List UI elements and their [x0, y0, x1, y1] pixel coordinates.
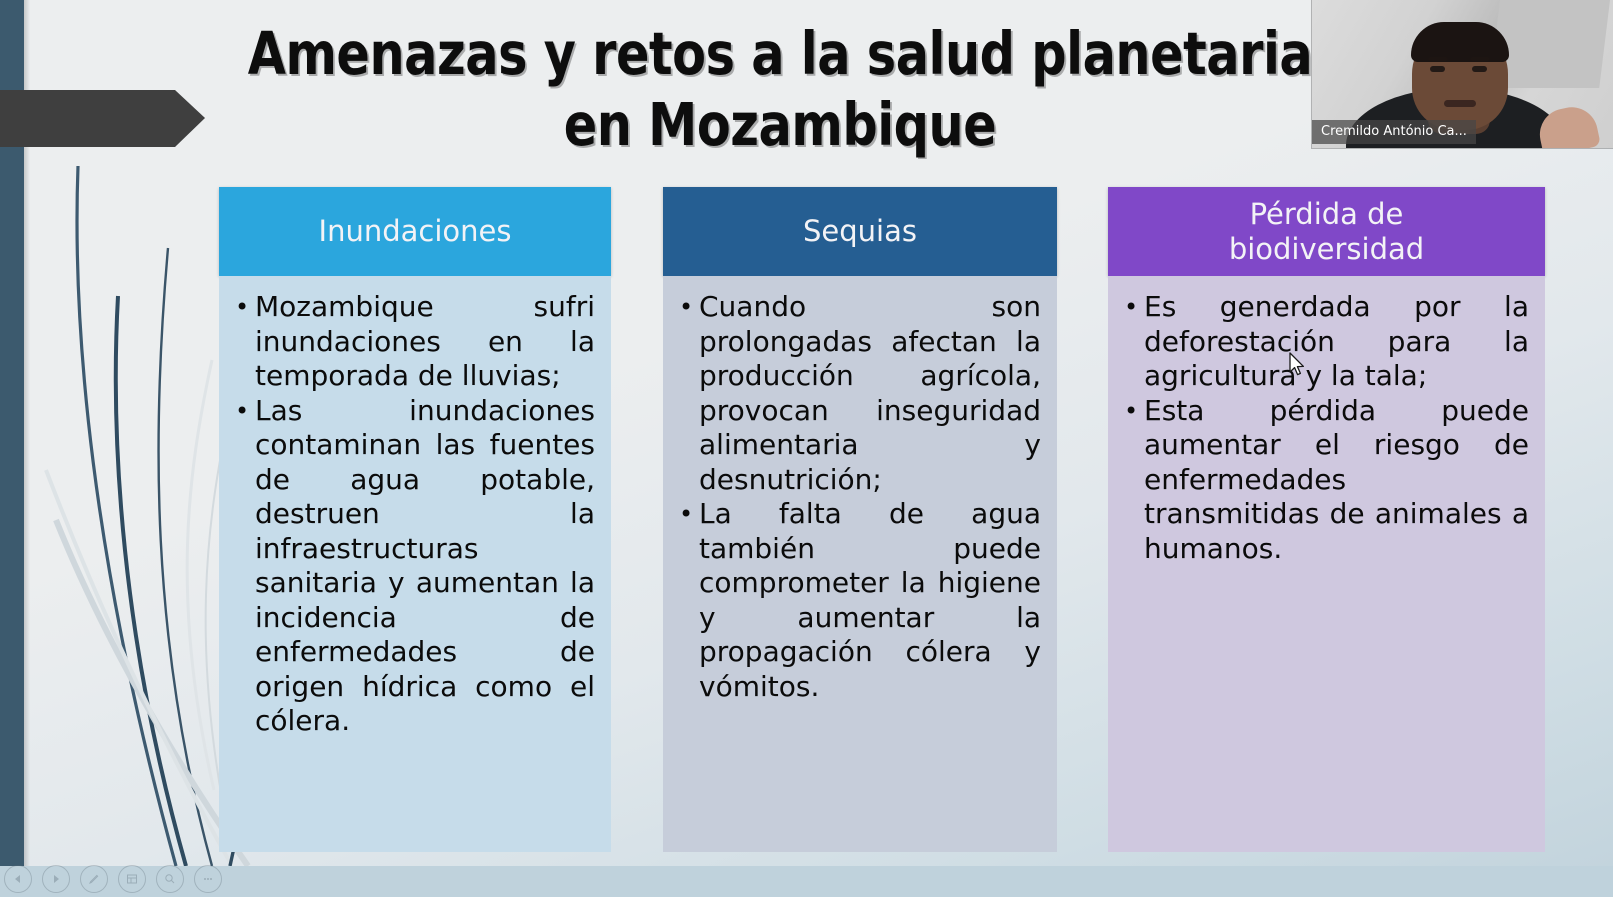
list-item: Mozambique sufri inundaciones en la temp… — [233, 290, 595, 394]
page-title: Amenazas y retos a la salud planetaria e… — [166, 18, 1394, 160]
topic-card-inundaciones: Inundaciones Mozambique sufri inundacion… — [219, 187, 611, 852]
slideshow-controls — [4, 865, 222, 893]
grid-view-icon[interactable] — [118, 865, 146, 893]
video-person-eyebrow-left — [1428, 57, 1448, 61]
topic-card-perdida-de-biodiversidad: Pérdida de biodiversidad Es generdada po… — [1108, 187, 1545, 852]
zoom-icon[interactable] — [156, 865, 184, 893]
list-item: Es generdada por la deforestación para l… — [1122, 290, 1529, 394]
bullet-list: Mozambique sufri inundaciones en la temp… — [233, 290, 595, 739]
list-item: Las inundaciones contaminan las fuentes … — [233, 394, 595, 739]
topic-card-header: Pérdida de biodiversidad — [1108, 187, 1545, 276]
video-person-eyebrow-right — [1470, 57, 1490, 61]
topic-card-header: Inundaciones — [219, 187, 611, 276]
topic-card-header: Sequias — [663, 187, 1057, 276]
participant-video-tile[interactable]: Cremildo António Ca... — [1312, 0, 1613, 148]
topic-card-body: Mozambique sufri inundaciones en la temp… — [219, 276, 611, 852]
pen-icon[interactable] — [80, 865, 108, 893]
list-item: Esta pérdida puede aumentar el riesgo de… — [1122, 394, 1529, 567]
list-item: La falta de agua también puede compromet… — [677, 497, 1041, 704]
bullet-list: Cuando son prolongadas afectan la produc… — [677, 290, 1041, 704]
topic-card-sequias: Sequias Cuando son prolongadas afectan l… — [663, 187, 1057, 852]
video-person-hair — [1411, 22, 1509, 62]
topic-card-body: Es generdada por la deforestación para l… — [1108, 276, 1545, 852]
slide-bottom-strip — [0, 866, 1613, 897]
bullet-list: Es generdada por la deforestación para l… — [1122, 290, 1529, 566]
next-slide-icon[interactable] — [42, 865, 70, 893]
video-person-mouth — [1444, 100, 1476, 107]
list-item: Cuando son prolongadas afectan la produc… — [677, 290, 1041, 497]
presentation-viewer: Amenazas y retos a la salud planetaria e… — [0, 0, 1613, 897]
previous-slide-icon[interactable] — [4, 865, 32, 893]
more-options-icon[interactable] — [194, 865, 222, 893]
topic-card-body: Cuando son prolongadas afectan la produc… — [663, 276, 1057, 852]
video-person-eye-left — [1430, 66, 1445, 72]
mouse-cursor — [1288, 352, 1306, 378]
video-person-eye-right — [1472, 66, 1487, 72]
participant-name-label: Cremildo António Ca... — [1312, 120, 1476, 144]
